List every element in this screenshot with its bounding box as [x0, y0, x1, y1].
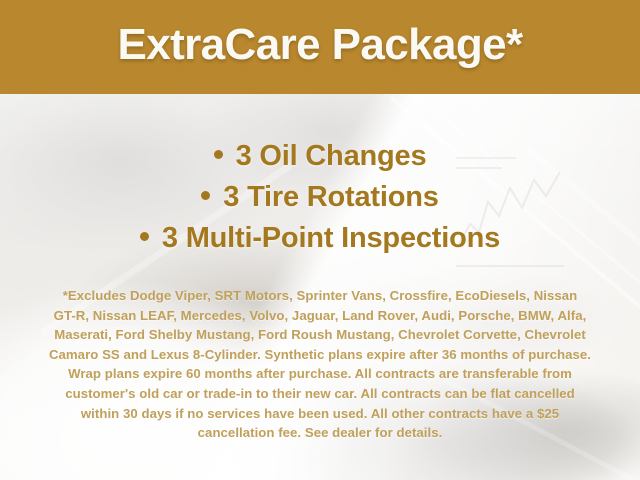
- extracare-package-ad: ExtraCare Package* 3 Oil Changes 3 Tire …: [0, 0, 640, 480]
- benefit-label: 3 Oil Changes: [236, 140, 427, 172]
- disclaimer-line: cancellation fee. See dealer for details…: [30, 423, 610, 443]
- bullet-dot-icon: [140, 232, 149, 241]
- benefit-item-tire-rotations: 3 Tire Rotations: [0, 177, 640, 218]
- disclaimer-line: *Excludes Dodge Viper, SRT Motors, Sprin…: [30, 286, 610, 306]
- disclaimer-line: Wrap plans expire 60 months after purcha…: [30, 364, 610, 384]
- benefit-label: 3 Tire Rotations: [223, 181, 438, 213]
- disclaimer-line: customer's old car or trade-in to their …: [30, 384, 610, 404]
- bullet-dot-icon: [201, 191, 210, 200]
- disclaimer-line: within 30 days if no services have been …: [30, 404, 610, 424]
- header-banner: ExtraCare Package*: [0, 0, 640, 94]
- benefits-list: 3 Oil Changes 3 Tire Rotations 3 Multi-P…: [0, 136, 640, 259]
- disclaimer-line: GT-R, Nissan LEAF, Mercedes, Volvo, Jagu…: [30, 306, 610, 326]
- disclaimer-line: Camaro SS and Lexus 8-Cylinder. Syntheti…: [30, 345, 610, 365]
- benefit-item-oil-changes: 3 Oil Changes: [0, 136, 640, 177]
- benefit-label: 3 Multi-Point Inspections: [162, 222, 500, 254]
- disclaimer-line: Maserati, Ford Shelby Mustang, Ford Rous…: [30, 325, 610, 345]
- bullet-dot-icon: [214, 150, 223, 159]
- disclaimer-text: *Excludes Dodge Viper, SRT Motors, Sprin…: [30, 286, 610, 443]
- page-title: ExtraCare Package*: [117, 23, 522, 71]
- benefit-item-multi-point-inspections: 3 Multi-Point Inspections: [0, 218, 640, 259]
